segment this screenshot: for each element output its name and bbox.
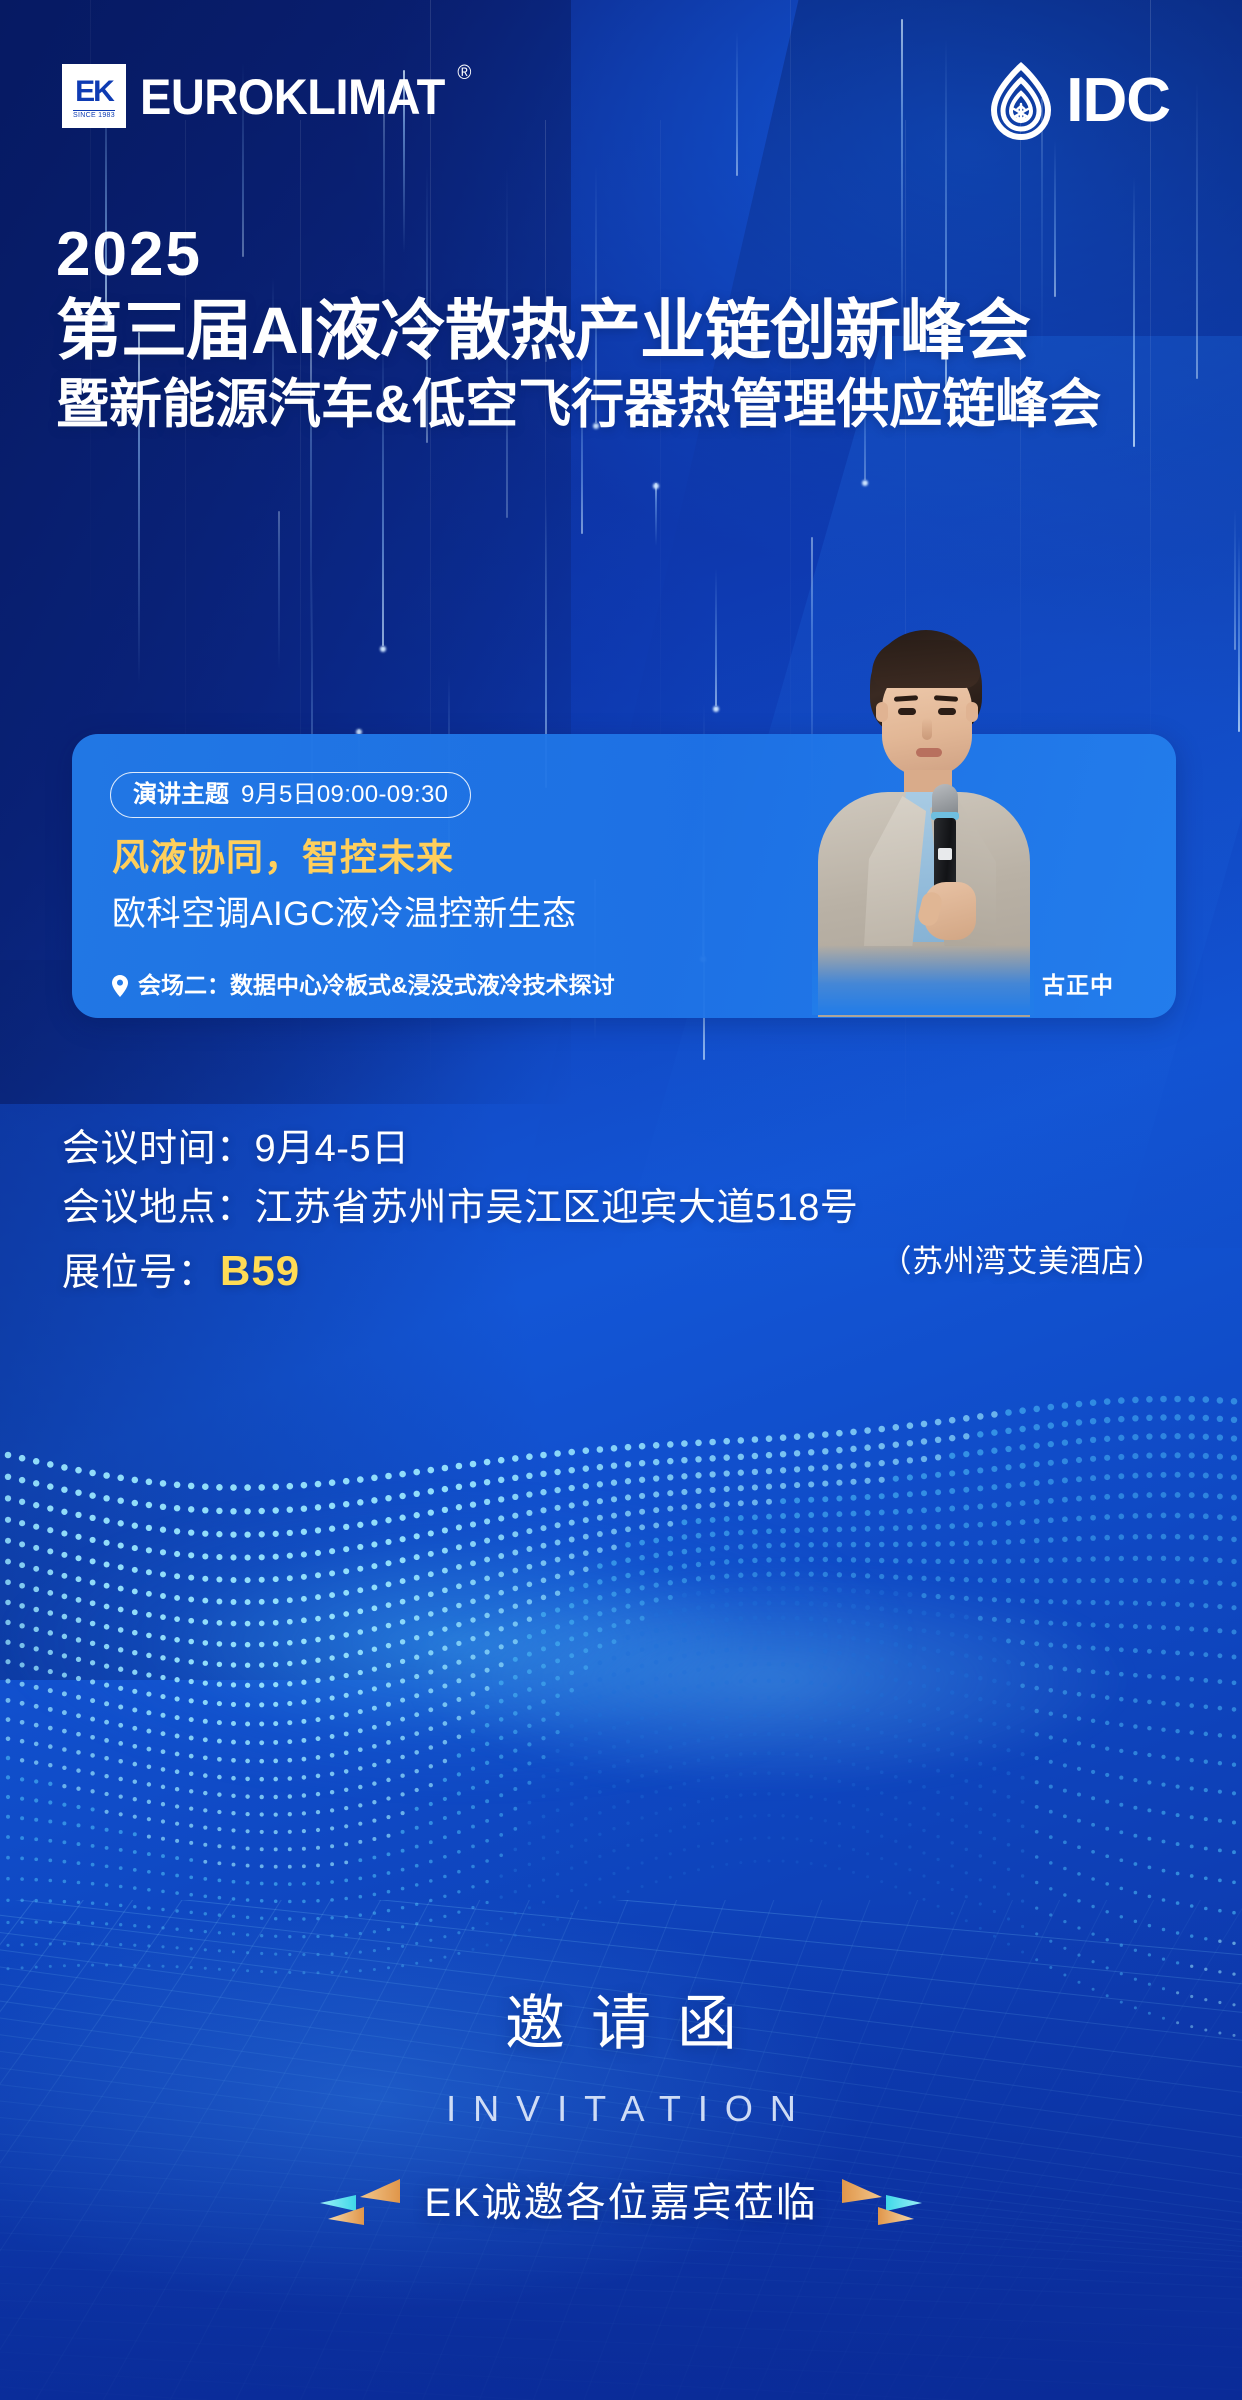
meeting-time-value: 9月4-5日	[255, 1128, 410, 1170]
session-venue-text: 会场二：数据中心冷板式&浸没式液冷技术探讨	[138, 974, 615, 997]
session-badge-label: 演讲主题	[133, 783, 229, 807]
idc-logo: IDC	[982, 60, 1170, 142]
euroklimat-wordmark: EUROKLIMAT ®	[140, 71, 445, 121]
portrait-ear-right	[966, 702, 978, 722]
idc-droplet-snowflake-icon	[982, 60, 1060, 142]
euroklimat-wordmark-text: EUROKLIMAT	[140, 68, 445, 124]
portrait-mouth	[916, 748, 942, 757]
chevron-right-decor-icon	[842, 2173, 938, 2233]
portrait-eye-right	[938, 708, 956, 715]
poster-root: EK SINCE 1983 EUROKLIMAT ®	[0, 0, 1242, 2400]
meeting-meta-block: 会议时间：9月4-5日 会议地点：江苏省苏州市吴江区迎宾大道518号 展位号：B…	[62, 1120, 1182, 1303]
ek-mark-since: SINCE 1983	[73, 110, 115, 119]
meeting-place-note: （苏州湾艾美酒店）	[881, 1236, 1165, 1281]
session-topic-subtitle: 欧科空调AIGC液冷温控新生态	[112, 896, 577, 933]
euroklimat-logo: EK SINCE 1983 EUROKLIMAT ®	[62, 64, 445, 128]
portrait-nose	[922, 718, 932, 740]
invitation-tagline: EK诚邀各位嘉宾莅临	[424, 2183, 817, 2223]
session-topic-title: 风液协同，智控未来	[112, 838, 454, 879]
microphone-label	[938, 848, 952, 860]
location-pin-icon	[112, 975, 128, 997]
title-line-1: 第三届AI液冷散热产业链创新峰会	[56, 291, 1196, 370]
meeting-place-value: 江苏省苏州市吴江区迎宾大道518号	[255, 1187, 859, 1229]
invitation-title-cn: 邀请函	[0, 1985, 1242, 2063]
booth-value: B59	[220, 1238, 300, 1303]
meeting-place-row: 会议地点：江苏省苏州市吴江区迎宾大道518号	[62, 1179, 1182, 1238]
meeting-time-row: 会议时间：9月4-5日	[62, 1120, 1182, 1179]
portrait-bottom-fade	[812, 945, 1034, 1015]
booth-label: 展位号：	[62, 1244, 216, 1303]
portrait-eye-left	[898, 708, 916, 715]
invitation-tagline-row: EK诚邀各位嘉宾莅临	[0, 2173, 1242, 2233]
session-badge: 演讲主题 9月5日09:00-09:30	[110, 772, 471, 818]
registered-mark: ®	[457, 63, 471, 83]
speaker-portrait	[812, 630, 1034, 1015]
invitation-footer: 邀请函 INVITATION	[0, 1985, 1242, 2233]
meeting-time-label: 会议时间：	[62, 1128, 255, 1170]
session-badge-time: 9月5日09:00-09:30	[241, 783, 448, 807]
ek-mark-letters: EK	[75, 77, 113, 107]
ek-logo-icon: EK SINCE 1983	[62, 64, 126, 128]
portrait-ear-left	[876, 702, 888, 722]
invitation-title-en: INVITATION	[0, 2091, 1242, 2127]
chevron-left-decor-icon	[304, 2173, 400, 2233]
title-block: 2025 第三届AI液冷散热产业链创新峰会 暨新能源汽车&低空飞行器热管理供应链…	[56, 222, 1196, 439]
meeting-place-label: 会议地点：	[62, 1187, 255, 1229]
title-year: 2025	[56, 222, 1196, 287]
session-venue: 会场二：数据中心冷板式&浸没式液冷技术探讨	[112, 974, 615, 997]
portrait-hair-front	[872, 640, 980, 688]
idc-wordmark: IDC	[1066, 70, 1170, 132]
title-line-2: 暨新能源汽车&低空飞行器热管理供应链峰会	[56, 372, 1196, 438]
poster-header: EK SINCE 1983 EUROKLIMAT ®	[0, 0, 1242, 180]
